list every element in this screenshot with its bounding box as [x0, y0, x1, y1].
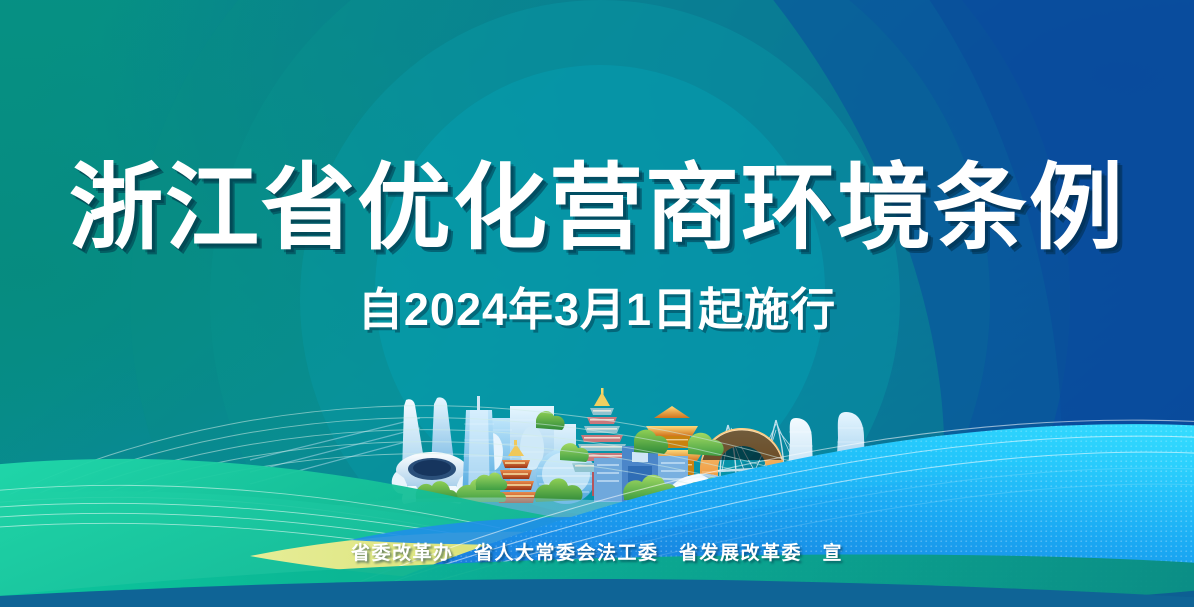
issuer-credits: 省委改革办 省人大常委会法工委 省发展改革委 宣 [0, 542, 1194, 566]
page-title: 浙江省优化营商环境条例 [0, 155, 1194, 261]
poster-banner: 浙江省优化营商环境条例 自2024年3月1日起施行 省委改革办 省人大常委会法工… [0, 0, 1194, 607]
page-subtitle: 自2024年3月1日起施行 [0, 284, 1194, 336]
